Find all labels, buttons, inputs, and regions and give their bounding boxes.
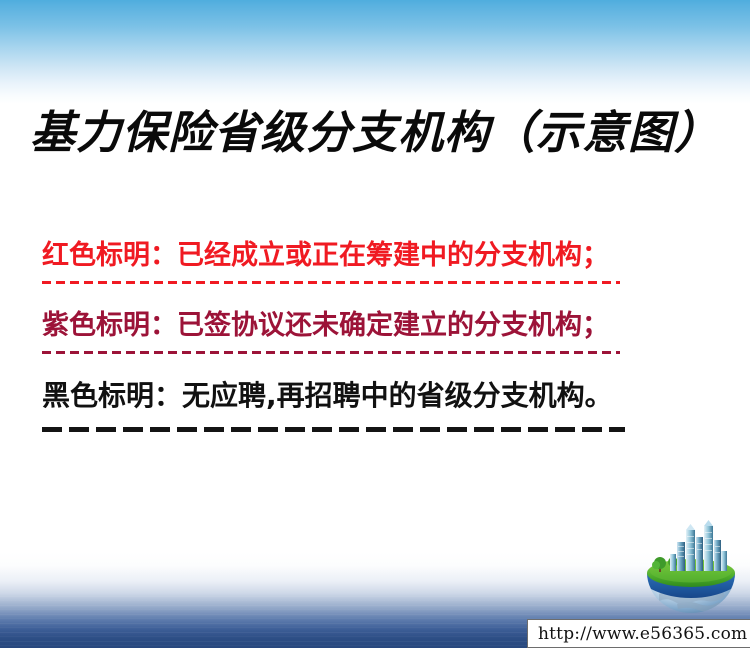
sky-gradient-banner — [0, 0, 750, 104]
watermark-url-text: http://www.e56365.com — [528, 624, 747, 644]
legend-item-purple: 紫色标明：已签协议还未确定建立的分支机构； — [42, 306, 642, 346]
legend-item-black: 黑色标明：无应聘,再招聘中的省级分支机构。 — [42, 376, 642, 416]
legend-block: 红色标明：已经成立或正在筹建中的分支机构； 紫色标明：已签协议还未确定建立的分支… — [42, 236, 642, 452]
globe-city-logo — [637, 518, 745, 618]
legend-item-red: 红色标明：已经成立或正在筹建中的分支机构； — [42, 236, 642, 276]
slide-canvas: 基力保险省级分支机构（示意图） 红色标明：已经成立或正在筹建中的分支机构； 紫色… — [0, 0, 750, 648]
legend-separator-black — [42, 427, 642, 443]
legend-separator-purple — [42, 351, 642, 367]
legend-separator-red — [42, 281, 642, 297]
watermark-url-box: http://www.e56365.com — [527, 619, 750, 648]
page-title: 基力保险省级分支机构（示意图） — [0, 96, 750, 161]
